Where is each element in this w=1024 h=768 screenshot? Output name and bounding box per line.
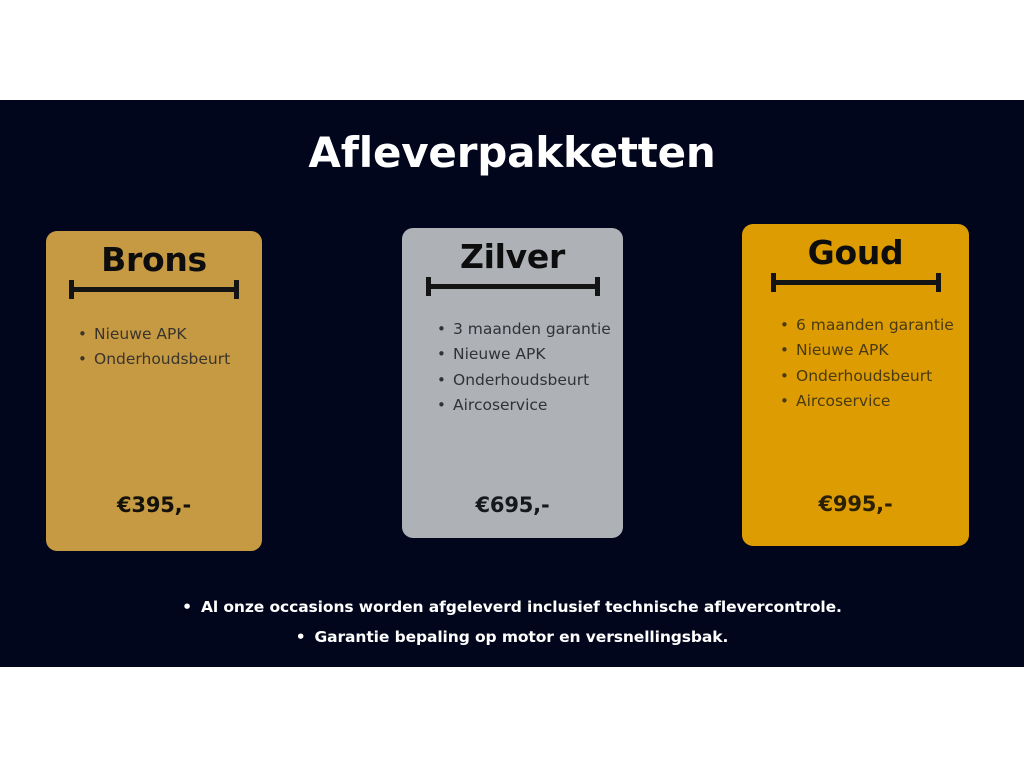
divider-cap-left: [771, 273, 776, 292]
divider-cap-right: [936, 273, 941, 292]
list-item: Onderhoudsbeurt: [778, 364, 969, 390]
footer-note-2: Garantie bepaling op motor en versnellin…: [0, 622, 1024, 652]
list-item: Nieuwe APK: [778, 338, 969, 364]
list-item: Nieuwe APK: [76, 322, 262, 348]
title-divider-icon: [771, 273, 941, 291]
divider-bar: [771, 280, 941, 285]
slide-root: Afleverpakketten Brons Nieuwe APK Onderh…: [0, 0, 1024, 768]
package-card-brons[interactable]: Brons Nieuwe APK Onderhoudsbeurt €395,-: [46, 231, 262, 551]
feature-list-zilver: 3 maanden garantie Nieuwe APK Onderhouds…: [435, 317, 623, 419]
list-item: 6 maanden garantie: [778, 313, 969, 339]
list-item: Onderhoudsbeurt: [435, 368, 623, 394]
list-item: 3 maanden garantie: [435, 317, 623, 343]
package-title-brons: Brons: [46, 231, 262, 278]
package-card-goud[interactable]: Goud 6 maanden garantie Nieuwe APK Onder…: [742, 224, 969, 546]
package-title-zilver: Zilver: [402, 228, 623, 275]
list-item: Aircoservice: [435, 393, 623, 419]
page-title: Afleverpakketten: [0, 128, 1024, 177]
price-zilver: €695,-: [402, 493, 623, 517]
divider-cap-left: [69, 280, 74, 299]
divider-bar: [426, 284, 600, 289]
list-item: Nieuwe APK: [435, 342, 623, 368]
feature-list-brons: Nieuwe APK Onderhoudsbeurt: [76, 322, 262, 373]
price-brons: €395,-: [46, 493, 262, 517]
divider-cap-right: [595, 277, 600, 296]
package-card-zilver[interactable]: Zilver 3 maanden garantie Nieuwe APK Ond…: [402, 228, 623, 538]
list-item: Aircoservice: [778, 389, 969, 415]
price-goud: €995,-: [742, 492, 969, 516]
feature-list-goud: 6 maanden garantie Nieuwe APK Onderhouds…: [778, 313, 969, 415]
footer-note-1: Al onze occasions worden afgeleverd incl…: [0, 592, 1024, 622]
divider-bar: [69, 287, 239, 292]
package-title-goud: Goud: [742, 224, 969, 271]
divider-cap-left: [426, 277, 431, 296]
title-divider-icon: [426, 277, 600, 295]
divider-cap-right: [234, 280, 239, 299]
title-divider-icon: [69, 280, 239, 298]
footer-notes: Al onze occasions worden afgeleverd incl…: [0, 592, 1024, 652]
list-item: Onderhoudsbeurt: [76, 347, 262, 373]
